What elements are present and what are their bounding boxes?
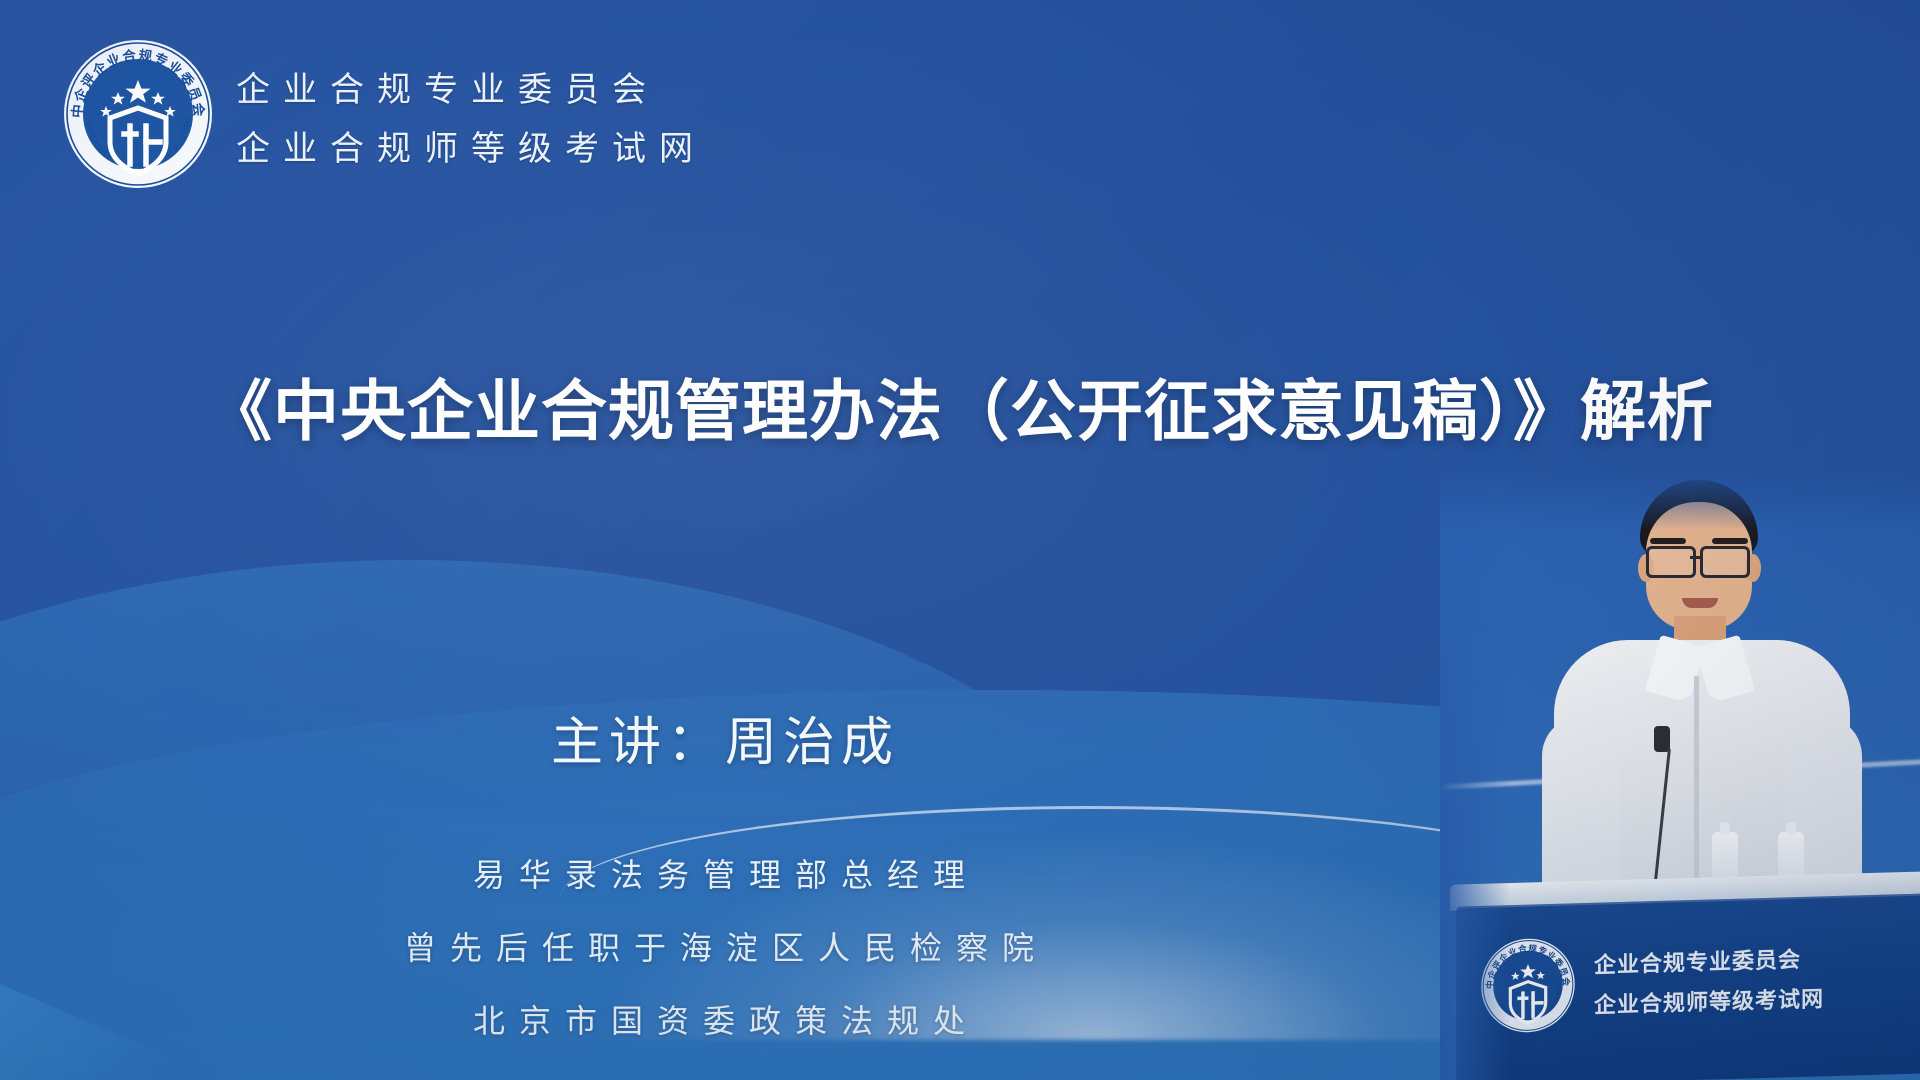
credential-line-3: 北京市国资委政策法规处 (0, 996, 1452, 1042)
speaker-brow-right (1712, 538, 1748, 544)
brand-line-exam-site: 企业合规师等级考试网 (236, 121, 706, 170)
credential-line-2: 曾先后任职于海淀区人民检察院 (0, 923, 1452, 969)
lectern-line-committee: 企业合规专业委员会 (1594, 941, 1824, 979)
presenter-credentials: 易华录法务管理部总经理 曾先后任职于海淀区人民检察院 北京市国资委政策法规处 (0, 850, 1452, 1042)
speaker-brow-left (1650, 538, 1686, 544)
lectern-compliance-shield-emblem-icon: 中企评企业合规专业委员会 CHINA CORPORATE COMPLIANCE … (1480, 936, 1576, 1035)
lectern-text-block: 企业合规专业委员会 企业合规师等级考试网 (1594, 941, 1824, 1019)
lectern: 中企评企业合规专业委员会 CHINA CORPORATE COMPLIANCE … (1450, 878, 1920, 1080)
speaker-glasses-left-lens (1646, 546, 1696, 578)
speaker-mouth (1682, 598, 1718, 608)
speaker-glasses-right-lens (1700, 546, 1750, 578)
lectern-line-exam-site: 企业合规师等级考试网 (1594, 981, 1824, 1019)
brand-line-committee: 企业合规专业委员会 (236, 62, 706, 111)
credential-line-1: 易华录法务管理部总经理 (0, 850, 1452, 896)
speaker-glasses-bridge (1690, 556, 1702, 559)
brand-header: 中企评企业合规专业委员会 CHINA CORPORATE COMPLIANCE … (62, 38, 706, 190)
presentation-slide: 中企评企业合规专业委员会 CHINA CORPORATE COMPLIANCE … (0, 0, 1920, 1080)
brand-header-titles: 企业合规专业委员会 企业合规师等级考试网 (236, 58, 706, 170)
speaker-video-inset: 中企评企业合规专业委员会 CHINA CORPORATE COMPLIANCE … (1440, 470, 1920, 1080)
lectern-branding: 中企评企业合规专业委员会 CHINA CORPORATE COMPLIANCE … (1480, 929, 1824, 1035)
presenter-name: 主讲：周治成 (0, 700, 1450, 775)
compliance-shield-emblem-icon: 中企评企业合规专业委员会 CHINA CORPORATE COMPLIANCE … (62, 38, 214, 190)
slide-title: 《中央企业合规管理办法（公开征求意见稿）》解析 (0, 358, 1920, 454)
